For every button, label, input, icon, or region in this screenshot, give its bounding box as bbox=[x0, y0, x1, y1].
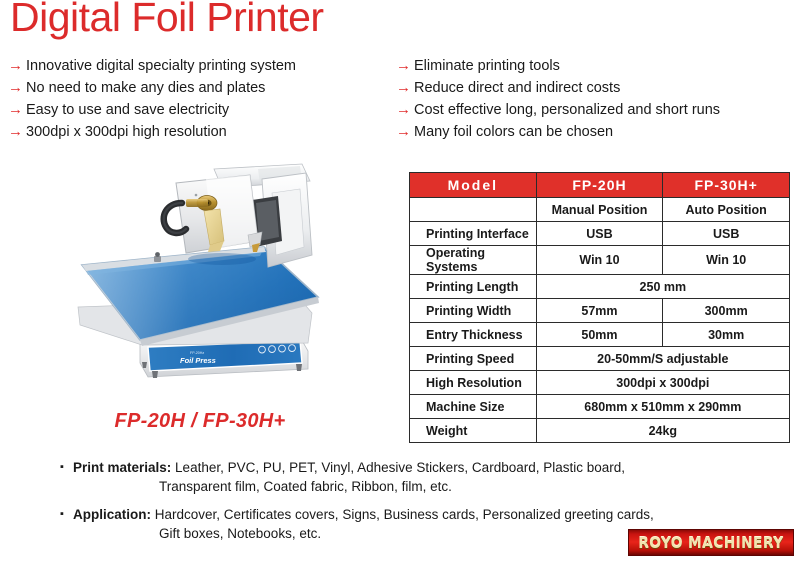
header-model: Model bbox=[410, 173, 537, 198]
application-key: Application: bbox=[73, 507, 151, 522]
row-value-col2: USB bbox=[663, 222, 790, 246]
application-value-1: Hardcover, Certificates covers, Signs, B… bbox=[151, 507, 654, 522]
arrow-icon: → bbox=[396, 121, 414, 143]
table-row: High Resolution 300dpi x 300dpi bbox=[410, 371, 790, 395]
table-row: Machine Size 680mm x 510mm x 290mm bbox=[410, 395, 790, 419]
row-label: Printing Length bbox=[410, 275, 537, 299]
feature-text: No need to make any dies and plates bbox=[26, 77, 265, 99]
row-value-span: 24kg bbox=[536, 419, 789, 443]
feature-text: Innovative digital specialty printing sy… bbox=[26, 55, 296, 77]
row-value-col1: 50mm bbox=[536, 323, 663, 347]
arrow-icon: → bbox=[8, 55, 26, 77]
row-value-col2: 30mm bbox=[663, 323, 790, 347]
table-row: Printing Width 57mm 300mm bbox=[410, 299, 790, 323]
row-label: Printing Interface bbox=[410, 222, 537, 246]
subheader-label bbox=[410, 198, 537, 222]
row-value-span: 250 mm bbox=[536, 275, 789, 299]
subheader-col2: Auto Position bbox=[663, 198, 790, 222]
table-row: Printing Interface USB USB bbox=[410, 222, 790, 246]
arrow-icon: → bbox=[8, 77, 26, 99]
header-col-fp20h: FP-20H bbox=[536, 173, 663, 198]
row-value-col1: 57mm bbox=[536, 299, 663, 323]
table-row: Printing Length 250 mm bbox=[410, 275, 790, 299]
feature-text: Many foil colors can be chosen bbox=[414, 121, 613, 143]
print-materials-value-1: Leather, PVC, PU, PET, Vinyl, Adhesive S… bbox=[171, 460, 625, 475]
row-label: Weight bbox=[410, 419, 537, 443]
row-label: Entry Thickness bbox=[410, 323, 537, 347]
logo-text: ROYO MACHINERY bbox=[638, 534, 783, 552]
square-bullet-icon: ▪ bbox=[60, 458, 73, 477]
panel-model-label: FP-20Hz bbox=[190, 351, 204, 355]
row-value-col2: 300mm bbox=[663, 299, 790, 323]
print-materials-body: Print materials: Leather, PVC, PU, PET, … bbox=[73, 458, 760, 496]
table-row: Weight 24kg bbox=[410, 419, 790, 443]
print-materials-line-1: Print materials: Leather, PVC, PU, PET, … bbox=[73, 458, 760, 477]
row-label: Printing Speed bbox=[410, 347, 537, 371]
foil-printer-illustration: FP-20Hz Foil Press PWR RUN HEAT SET bbox=[0, 155, 400, 405]
print-materials-key: Print materials: bbox=[73, 460, 171, 475]
row-value-span: 680mm x 510mm x 290mm bbox=[536, 395, 789, 419]
feature-item: → Eliminate printing tools bbox=[396, 55, 796, 77]
row-value-span: 300dpi x 300dpi bbox=[536, 371, 789, 395]
feature-item: → Reduce direct and indirect costs bbox=[396, 77, 796, 99]
square-bullet-icon: ▪ bbox=[60, 505, 73, 524]
row-label: Machine Size bbox=[410, 395, 537, 419]
panel-brand-label: Foil Press bbox=[180, 356, 216, 365]
feature-text: Easy to use and save electricity bbox=[26, 99, 229, 121]
row-label: Operating Systems bbox=[410, 246, 537, 275]
feature-item: → Easy to use and save electricity bbox=[8, 99, 388, 121]
arrow-icon: → bbox=[396, 55, 414, 77]
row-value-col1: Win 10 bbox=[536, 246, 663, 275]
feature-item: → Cost effective long, personalized and … bbox=[396, 99, 796, 121]
table-subheader-row: Manual Position Auto Position bbox=[410, 198, 790, 222]
table-row: Entry Thickness 50mm 30mm bbox=[410, 323, 790, 347]
feature-item: → 300dpi x 300dpi high resolution bbox=[8, 121, 388, 143]
table-row: Printing Speed 20-50mm/S adjustable bbox=[410, 347, 790, 371]
row-label: High Resolution bbox=[410, 371, 537, 395]
arrow-icon: → bbox=[8, 121, 26, 143]
table-row: Operating Systems Win 10 Win 10 bbox=[410, 246, 790, 275]
feature-item: → Innovative digital specialty printing … bbox=[8, 55, 388, 77]
feature-column-right: → Eliminate printing tools → Reduce dire… bbox=[396, 55, 796, 143]
row-value-col1: USB bbox=[536, 222, 663, 246]
header-col-fp30h: FP-30H+ bbox=[663, 173, 790, 198]
product-image-area: FP-20Hz Foil Press PWR RUN HEAT SET bbox=[0, 155, 400, 435]
row-label: Printing Width bbox=[410, 299, 537, 323]
feature-text: Reduce direct and indirect costs bbox=[414, 77, 620, 99]
feature-item: → No need to make any dies and plates bbox=[8, 77, 388, 99]
page-title: Digital Foil Printer bbox=[10, 0, 324, 41]
feature-list: → Innovative digital specialty printing … bbox=[0, 55, 796, 147]
feature-text: Cost effective long, personalized and sh… bbox=[414, 99, 720, 121]
arrow-icon: → bbox=[396, 99, 414, 121]
arrow-icon: → bbox=[8, 99, 26, 121]
feature-text: 300dpi x 300dpi high resolution bbox=[26, 121, 227, 143]
table-header-row: Model FP-20H FP-30H+ bbox=[410, 173, 790, 198]
row-value-span: 20-50mm/S adjustable bbox=[536, 347, 789, 371]
print-materials-line-2: Transparent film, Coated fabric, Ribbon,… bbox=[73, 477, 760, 496]
feature-item: → Many foil colors can be chosen bbox=[396, 121, 796, 143]
specification-table: Model FP-20H FP-30H+ Manual Position Aut… bbox=[409, 172, 790, 443]
arrow-icon: → bbox=[396, 77, 414, 99]
royo-machinery-logo: ROYO MACHINERY bbox=[628, 529, 794, 556]
feature-text: Eliminate printing tools bbox=[414, 55, 560, 77]
subheader-col1: Manual Position bbox=[536, 198, 663, 222]
application-line-1: Application: Hardcover, Certificates cov… bbox=[73, 505, 760, 524]
feature-column-left: → Innovative digital specialty printing … bbox=[8, 55, 388, 143]
row-value-col2: Win 10 bbox=[663, 246, 790, 275]
product-caption: FP-20H / FP-30H+ bbox=[0, 410, 400, 433]
print-materials-block: ▪ Print materials: Leather, PVC, PU, PET… bbox=[60, 458, 760, 496]
